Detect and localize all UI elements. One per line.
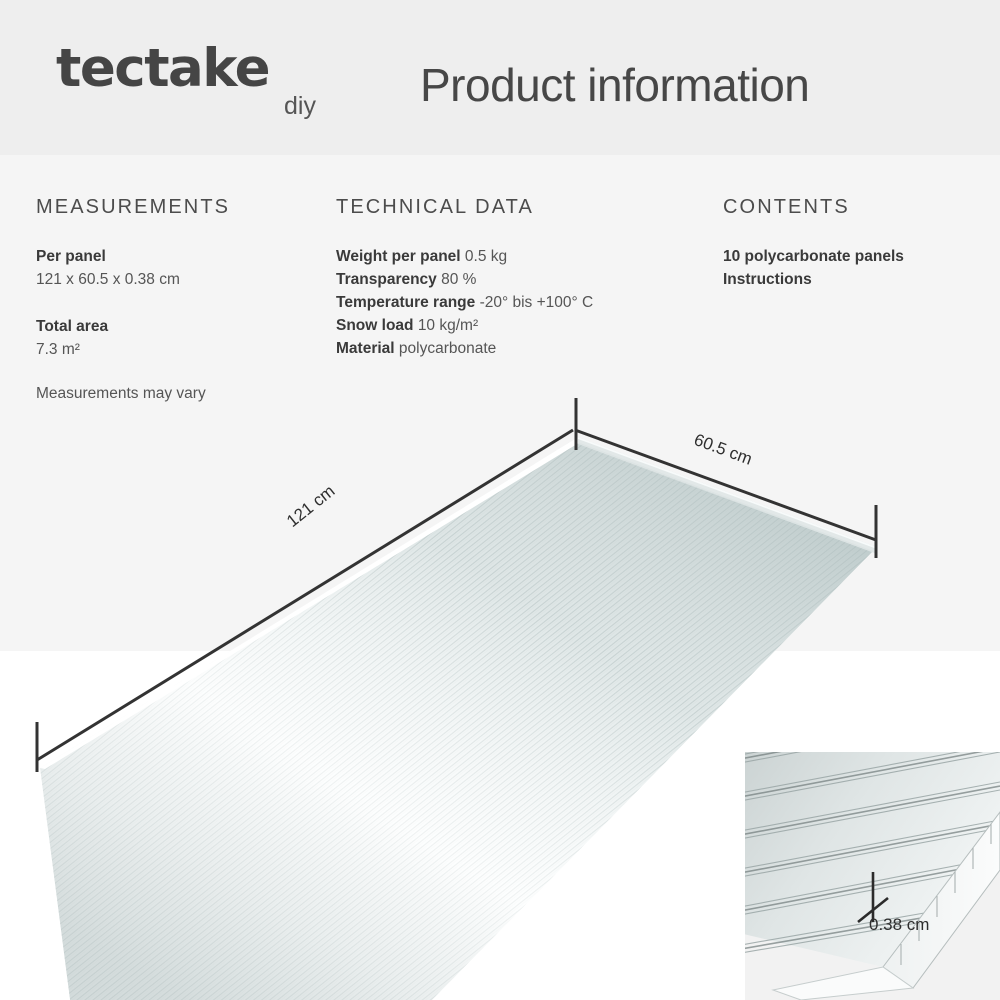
thickness-label-text: 0.38 cm — [869, 915, 929, 934]
technical-data-column: TECHNICAL DATA Weight per panel 0.5 kg T… — [336, 196, 716, 360]
contents-column: CONTENTS 10 polycarbonate panels Instruc… — [723, 196, 993, 291]
thickness-detail-inset: 0.38 cm — [745, 752, 1000, 1000]
per-panel-value: 121 x 60.5 x 0.38 cm — [36, 268, 326, 291]
page-title: Product information — [420, 58, 809, 112]
contents-item: 10 polycarbonate panels — [723, 245, 993, 268]
measurements-heading: MEASUREMENTS — [36, 196, 326, 219]
total-area-label: Total area — [36, 315, 326, 338]
measurements-note: Measurements may vary — [36, 385, 326, 403]
spacer — [36, 291, 326, 315]
twin-wall-cross-section-icon: 0.38 cm — [745, 752, 1000, 1000]
technical-row: Material polycarbonate — [336, 337, 716, 360]
technical-row: Weight per panel 0.5 kg — [336, 245, 716, 268]
product-information-page: tectake diy Product information MEASUREM… — [0, 0, 1000, 1000]
contents-item: Instructions — [723, 268, 993, 291]
per-panel-label: Per panel — [36, 245, 326, 268]
measurement-group: Total area 7.3 m² — [36, 315, 326, 361]
measurements-column: MEASUREMENTS Per panel 121 x 60.5 x 0.38… — [36, 196, 326, 403]
logo-tagline: diy — [284, 92, 316, 121]
contents-heading: CONTENTS — [723, 196, 993, 219]
technical-row: Transparency 80 % — [336, 268, 716, 291]
technical-row: Snow load 10 kg/m² — [336, 314, 716, 337]
technical-data-heading: TECHNICAL DATA — [336, 196, 716, 219]
logo-wordmark: tectake — [56, 42, 269, 95]
technical-row: Temperature range -20° bis +100° C — [336, 291, 716, 314]
brand-logo: tectake diy — [56, 42, 316, 137]
total-area-value: 7.3 m² — [36, 338, 326, 361]
measurement-group: Per panel 121 x 60.5 x 0.38 cm — [36, 245, 326, 291]
